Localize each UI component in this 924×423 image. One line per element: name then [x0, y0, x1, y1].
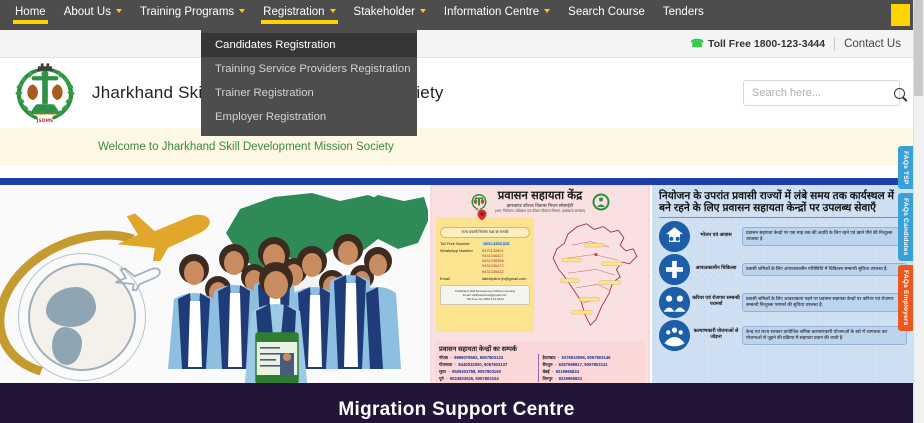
section-divider	[0, 178, 913, 185]
service-row: कल्याणकारी योजनाओं से जोड़ना केन्द्र एवं…	[659, 320, 907, 351]
toll-free-row: Toll Free Number 1800-3456-526	[440, 241, 530, 246]
service-row: आपातकालीन चिकित्सा प्रवासी श्रमिकों के ल…	[659, 254, 907, 285]
contact-line: हैदराबाद - 6376910096, 9057803146	[543, 354, 642, 361]
contact-line: गौतमाला - 8440032000, 9057803137	[439, 361, 538, 368]
contact-us-link[interactable]: Contact Us	[844, 38, 901, 50]
nav-item-training-programs[interactable]: Training Programs	[131, 0, 254, 29]
nav-item-label: Training Programs	[140, 3, 234, 22]
poster-inner: JSDMS प्रवासन सहायता केंद्र झारखण्ड कौशल…	[432, 187, 648, 388]
contact-city: चेन्नई	[543, 369, 550, 374]
dropdown-item-4[interactable]: Employer Registration	[201, 105, 417, 129]
nav-item-label: Registration	[263, 3, 324, 22]
card-heading: राज्य प्रवासी नियंत्रण कक्ष का सम्पर्क	[440, 227, 530, 238]
india-map-icon	[543, 221, 647, 329]
contact-city: नोएडा	[439, 355, 448, 360]
contact-line: चेन्नई - 9219965824	[543, 368, 642, 375]
email-value: labhelpline.jh@gmail.com	[482, 276, 526, 281]
service-text: प्रवासी श्रमिकों के लिए आवश्यकता पड़ने प…	[742, 293, 907, 312]
nav-highlight-block[interactable]	[891, 4, 910, 26]
contacts-title: प्रवासन सहायता केन्द्रों का सम्पर्क	[439, 344, 641, 353]
contact-separator: -	[449, 355, 453, 360]
contact-numbers: 9024833026, 9057803154	[450, 376, 499, 381]
search-box[interactable]	[743, 80, 900, 106]
dropdown-item-1[interactable]: Candidates Registration	[201, 33, 417, 57]
chevron-down-icon	[544, 9, 550, 13]
whatsapp-number: 9431336432	[482, 269, 530, 274]
contact-line: बैंगलुरु - 6367999817, 9057803141	[543, 361, 642, 368]
toll-free-info: ☎ Toll Free 1800-123-3444	[690, 37, 825, 50]
faq-tab-tsp[interactable]: FAQs TSP	[898, 146, 913, 189]
service-label: कल्याणकारी योजनाओं से जोड़ना	[690, 329, 742, 342]
service-text: प्रवासन सहायता केन्द्रों पर एक माह तक की…	[742, 227, 907, 246]
welcome-message: Welcome to Jharkhand Skill Development M…	[98, 141, 394, 153]
whatsapp-label: WhatsApp Number	[440, 248, 482, 253]
contact-separator: -	[554, 376, 558, 381]
contact-line: सूरत - 9509203788, 9057803150	[439, 368, 538, 375]
nav-item-label: Tenders	[663, 3, 704, 22]
page-content: Home About Us Training Programs Registra…	[0, 0, 913, 423]
faq-tab-group: FAQs TSP FAQs Candidates FAQs Employers	[898, 146, 913, 335]
chevron-down-icon	[330, 9, 336, 13]
nav-item-information-centre[interactable]: Information Centre	[435, 0, 559, 29]
food-shelter-icon	[659, 221, 690, 252]
contact-numbers: 9899079592, 9057803133	[454, 355, 503, 360]
contact-line: नोएडा - 9899079592, 9057803133	[439, 354, 538, 361]
search-input[interactable]	[752, 87, 894, 99]
search-icon[interactable]	[894, 88, 905, 99]
nav-item-tenders[interactable]: Tenders	[654, 0, 713, 29]
note-line-3: Toll Free No.1800-123-3444	[443, 297, 527, 301]
poster-footer-note: Jharkhand Skill Development Mission Soci…	[440, 285, 530, 305]
contact-separator: -	[557, 355, 561, 360]
svg-text:JSDMS: JSDMS	[36, 118, 53, 124]
jharkhand-state-emblem-logo[interactable]: सत्यमेव जयते JSDMS	[8, 62, 82, 124]
contact-line: तिरुपुर - 9219965823	[543, 375, 642, 382]
nav-item-label: About Us	[64, 3, 111, 22]
nav-item-label: Search Course	[568, 3, 645, 22]
faq-tab-employers[interactable]: FAQs Employers	[898, 265, 913, 331]
services-heading: नियोजन के उपरांत प्रवासी राज्यों में लंब…	[659, 190, 907, 218]
nav-item-label: Information Centre	[444, 3, 539, 22]
control-room-contact-card: राज्य प्रवासी नियंत्रण कक्ष का सम्पर्क T…	[436, 217, 534, 332]
poster-header: JSDMS प्रवासन सहायता केंद्र झारखण्ड कौशल…	[432, 187, 648, 214]
service-label: आपातकालीन चिकित्सा	[690, 266, 742, 272]
india-map-card	[537, 217, 644, 332]
faq-tab-label: FAQs TSP	[902, 151, 909, 184]
migration-support-banner[interactable]: JSDMS प्रवासन सहायता केंद्र झारखण्ड कौशल…	[0, 185, 913, 423]
welcome-strip: Welcome to Jharkhand Skill Development M…	[0, 128, 913, 166]
contact-separator: -	[551, 369, 555, 374]
service-label: करियर एवं रोजगार सम्बन्धी परामर्श	[690, 296, 742, 309]
banner-collage	[0, 185, 428, 390]
services-list: भोजन एवं आवास प्रवासन सहायता केन्द्रों प…	[659, 221, 907, 351]
whatsapp-number-list: 9431336427 9431336398 9431336472 9431336…	[482, 253, 530, 274]
contacts-column-left: नोएडा - 9899079592, 9057803133 गौतमाला -…	[439, 354, 538, 382]
dropdown-item-3[interactable]: Trainer Registration	[201, 81, 417, 105]
chevron-down-icon	[239, 9, 245, 13]
nav-item-label: Home	[15, 3, 46, 22]
registration-dropdown-menu[interactable]: Candidates RegistrationTraining Service …	[201, 30, 417, 136]
faq-tab-label: FAQs Candidates	[902, 198, 909, 256]
main-navigation-bar: Home About Us Training Programs Registra…	[0, 0, 913, 30]
service-text: केन्द्र एवं राज्य सरकार प्रायोजित श्रमिक…	[742, 326, 907, 345]
service-text: प्रवासी श्रमिकों के लिए आपातकालीन परिस्थ…	[742, 263, 907, 276]
career-counselling-icon	[659, 287, 690, 318]
browser-page: Home About Us Training Programs Registra…	[0, 0, 924, 423]
divider	[834, 37, 835, 51]
contact-numbers: 6376910096, 9057803146	[562, 355, 611, 360]
poster-title: प्रवासन सहायता केंद्र	[495, 190, 585, 203]
svg-text:सत्यमेव जयते: सत्यमेव जयते	[35, 112, 56, 117]
contact-numbers: 6367999817, 9057803141	[559, 362, 608, 367]
map-pin-icon	[476, 209, 488, 221]
contact-numbers: 9219965824	[556, 369, 579, 374]
services-info-panel[interactable]: नियोजन के उपरांत प्रवासी राज्यों में लंब…	[650, 185, 913, 390]
email-label: Email	[440, 276, 482, 281]
contact-city: बैंगलुरु	[543, 362, 553, 367]
page-scrollbar[interactable]	[913, 0, 924, 423]
service-row: करियर एवं रोजगार सम्बन्धी परामर्श प्रवास…	[659, 287, 907, 318]
migration-centre-contacts: प्रवासन सहायता केन्द्रों का सम्पर्क नोएड…	[435, 341, 645, 385]
email-row: Email labhelpline.jh@gmail.com	[440, 276, 530, 281]
nav-item-label: Stakeholder	[354, 3, 415, 22]
toll-free-label: Toll Free Number	[440, 241, 482, 246]
faq-tab-candidates[interactable]: FAQs Candidates	[898, 193, 913, 261]
contact-numbers: 9219965823	[559, 376, 582, 381]
migration-centre-poster[interactable]: JSDMS प्रवासन सहायता केंद्र झारखण्ड कौशल…	[428, 185, 650, 390]
nav-item-home[interactable]: Home	[6, 0, 55, 29]
welfare-scheme-icon	[659, 320, 690, 351]
toll-free-number: Toll Free 1800-123-3444	[708, 38, 825, 50]
contact-city: पूने	[439, 376, 444, 381]
scrollbar-thumb[interactable]	[914, 0, 923, 96]
dropdown-item-2[interactable]: Training Service Providers Registration	[201, 57, 417, 81]
emergency-medical-icon	[659, 254, 690, 285]
contact-city: सूरत	[439, 369, 446, 374]
contact-city: तिरुपुर	[543, 376, 553, 381]
service-label: भोजन एवं आवास	[690, 233, 742, 239]
faq-tab-label: FAQs Employers	[902, 270, 909, 326]
poster-body: राज्य प्रवासी नियंत्रण कक्ष का सम्पर्क T…	[432, 214, 648, 332]
jsdms-logo-icon	[591, 192, 611, 212]
contact-line: पूने - 9024833026, 9057803154	[439, 375, 538, 382]
trainees-group-photo	[148, 207, 408, 390]
poster-subtitle-2: (श्रम, नियोजन, प्रशिक्षण एवं कौशल विकास …	[495, 209, 585, 214]
contact-numbers: 9509203788, 9057803150	[452, 369, 501, 374]
contact-city: गौतमाला	[439, 362, 452, 367]
service-row: भोजन एवं आवास प्रवासन सहायता केन्द्रों प…	[659, 221, 907, 252]
contact-numbers: 8440032000, 9057803137	[458, 362, 507, 367]
utility-bar: ☎ Toll Free 1800-123-3444 Contact Us	[0, 30, 913, 58]
phone-icon: ☎	[690, 37, 704, 50]
contacts-column-right: हैदराबाद - 6376910096, 9057803146 बैंगलु…	[538, 354, 642, 382]
contacts-grid: नोएडा - 9899079592, 9057803133 गौतमाला -…	[439, 354, 641, 382]
toll-free-value: 1800-3456-526	[482, 241, 510, 246]
contact-separator: -	[447, 369, 451, 374]
contact-city: हैदराबाद	[543, 355, 556, 360]
nav-item-registration[interactable]: Registration	[254, 0, 344, 29]
nav-item-stakeholder[interactable]: Stakeholder	[345, 0, 435, 29]
nav-item-about-us[interactable]: About Us	[55, 0, 131, 29]
chevron-down-icon	[116, 9, 122, 13]
contact-separator: -	[554, 362, 558, 367]
contact-separator: -	[454, 362, 458, 367]
chevron-down-icon	[420, 9, 426, 13]
poster-title-group: प्रवासन सहायता केंद्र झारखण्ड कौशल विकास…	[495, 190, 585, 214]
banner-caption: Migration Support Centre	[0, 399, 913, 421]
nav-item-search-course[interactable]: Search Course	[559, 0, 654, 29]
contact-separator: -	[445, 376, 449, 381]
